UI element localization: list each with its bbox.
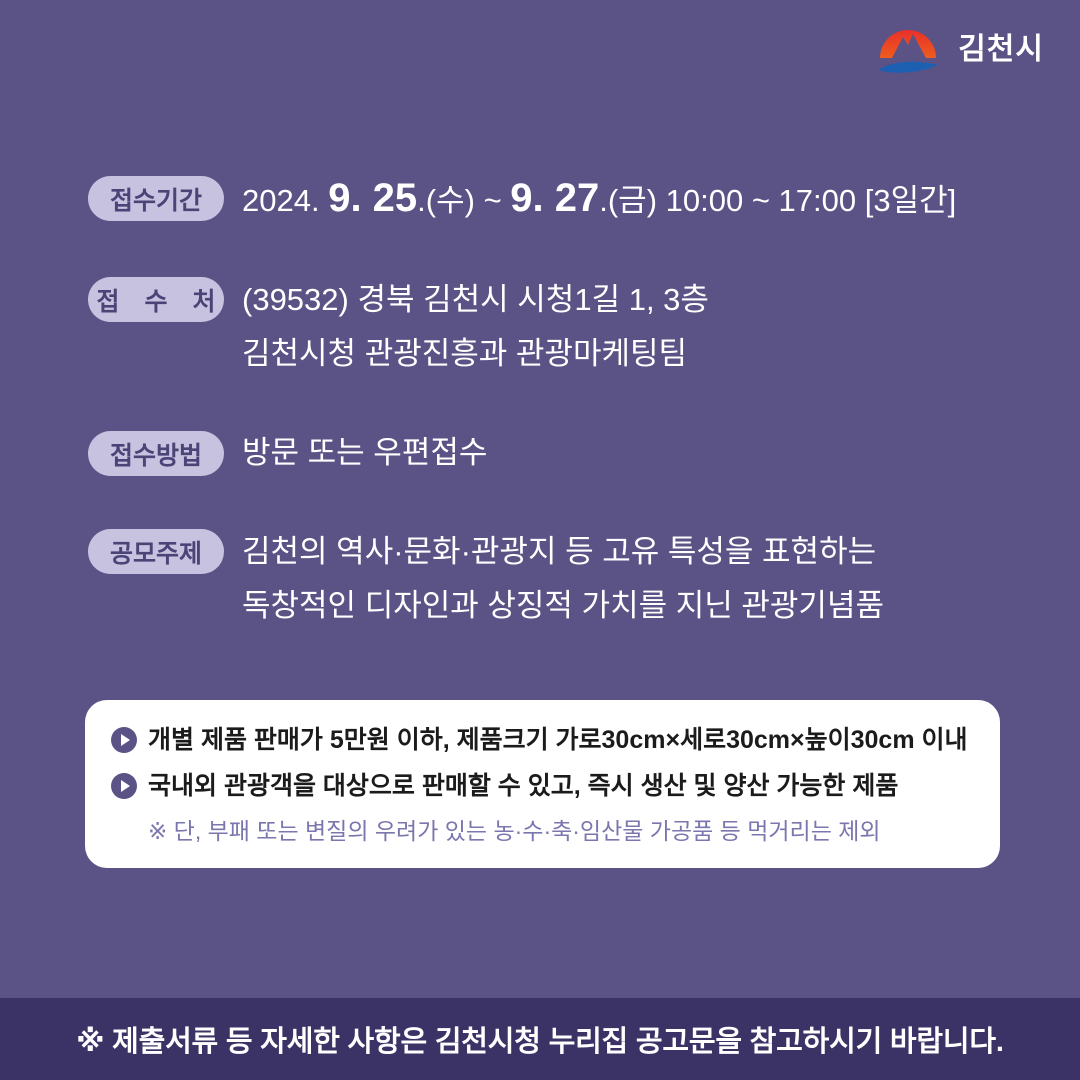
- badge-application-period: 접수기간: [88, 176, 224, 221]
- row-contest-theme: 공모주제 김천의 역사·문화·관광지 등 고유 특성을 표현하는 독창적인 디자…: [88, 525, 1008, 633]
- row-body-application-method: 방문 또는 우편접수: [242, 427, 487, 479]
- footer-notice-text: ※ 제출서류 등 자세한 사항은 김천시청 누리집 공고문을 참고하시기 바랍니…: [76, 1018, 1003, 1060]
- brand-logo: 김천시: [874, 22, 1044, 78]
- row-body-application-period: 2024. 9. 25.(수) ~ 9. 27.(금) 10:00 ~ 17:0…: [242, 172, 956, 227]
- contest-theme-line1: 김천의 역사·문화·관광지 등 고유 특성을 표현하는: [242, 525, 884, 579]
- row-body-reception-office: (39532) 경북 김천시 시청1길 1, 3층 김천시청 관광진흥과 관광마…: [242, 273, 709, 381]
- reception-office-address-line2: 김천시청 관광진흥과 관광마케팅팀: [242, 327, 709, 381]
- row-application-method: 접수방법 방문 또는 우편접수: [88, 427, 1008, 479]
- contest-theme-line2: 독창적인 디자인과 상징적 가치를 지닌 관광기념품: [242, 579, 884, 633]
- requirement-exclusion-note: ※ 단, 부패 또는 변질의 우려가 있는 농·수·축·임산물 가공품 등 먹거…: [148, 816, 974, 846]
- gimcheon-sun-mountain-wave-logo: [874, 22, 946, 78]
- play-circle-icon: [111, 773, 137, 799]
- period-start-date: 9. 25: [328, 176, 417, 220]
- row-application-period: 접수기간 2024. 9. 25.(수) ~ 9. 27.(금) 10:00 ~…: [88, 172, 1008, 227]
- play-circle-icon: [111, 727, 137, 753]
- row-reception-office: 접 수 처 (39532) 경북 김천시 시청1길 1, 3층 김천시청 관광진…: [88, 273, 1008, 381]
- period-end-day-and-hours: .(금) 10:00 ~ 17:00 [3일간]: [599, 183, 956, 218]
- requirement-item: 국내외 관광객을 대상으로 판매할 수 있고, 즉시 생산 및 양산 가능한 제…: [111, 770, 974, 802]
- poster-canvas: 김천시 접수기간 2024. 9. 25.(수) ~ 9. 27.(금) 10:…: [0, 0, 1080, 1080]
- application-method-text: 방문 또는 우편접수: [242, 427, 487, 479]
- period-end-date: 9. 27: [510, 176, 599, 220]
- requirement-text-sales-production: 국내외 관광객을 대상으로 판매할 수 있고, 즉시 생산 및 양산 가능한 제…: [148, 770, 898, 802]
- badge-application-method: 접수방법: [88, 431, 224, 476]
- period-start-day: .(수) ~: [417, 183, 510, 218]
- requirement-text-price-size: 개별 제품 판매가 5만원 이하, 제품크기 가로30cm×세로30cm×높이3…: [148, 724, 968, 756]
- application-period-line: 2024. 9. 25.(수) ~ 9. 27.(금) 10:00 ~ 17:0…: [242, 172, 956, 227]
- row-body-contest-theme: 김천의 역사·문화·관광지 등 고유 특성을 표현하는 독창적인 디자인과 상징…: [242, 525, 884, 633]
- requirement-item: 개별 제품 판매가 5만원 이하, 제품크기 가로30cm×세로30cm×높이3…: [111, 724, 974, 756]
- reception-office-address-line1: (39532) 경북 김천시 시청1길 1, 3층: [242, 273, 709, 327]
- requirements-card: 개별 제품 판매가 5만원 이하, 제품크기 가로30cm×세로30cm×높이3…: [85, 700, 1000, 868]
- badge-reception-office: 접 수 처: [88, 277, 224, 322]
- badge-contest-theme: 공모주제: [88, 529, 224, 574]
- period-year: 2024.: [242, 183, 328, 218]
- footer-bar: ※ 제출서류 등 자세한 사항은 김천시청 누리집 공고문을 참고하시기 바랍니…: [0, 998, 1080, 1080]
- brand-name: 김천시: [958, 35, 1044, 65]
- info-rows: 접수기간 2024. 9. 25.(수) ~ 9. 27.(금) 10:00 ~…: [88, 172, 1008, 633]
